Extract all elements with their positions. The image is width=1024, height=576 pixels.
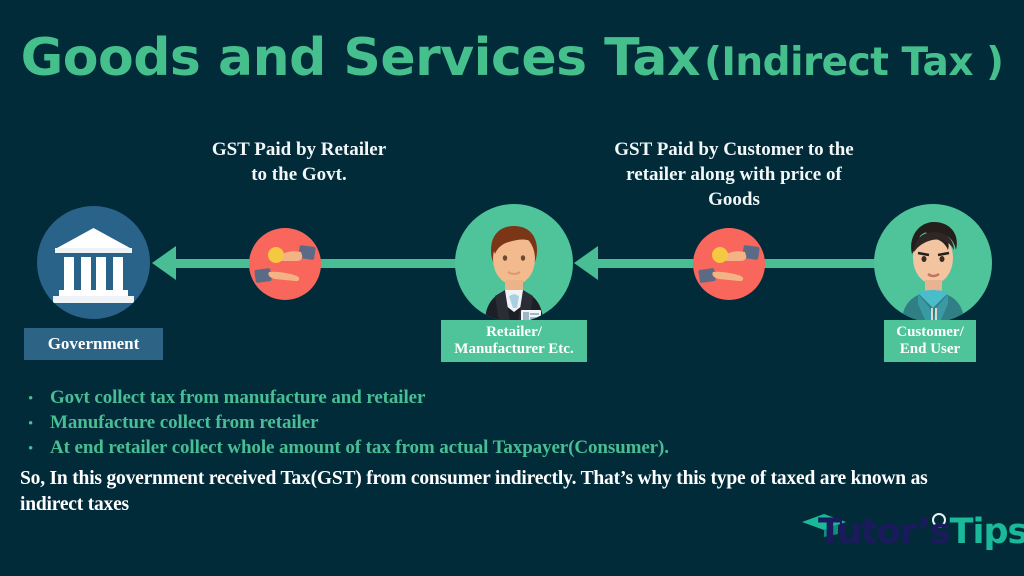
caption-right-line-1: GST Paid by Customer to the <box>576 137 892 162</box>
infographic-canvas: Goods and Services Tax (Indirect Tax ) G… <box>0 0 1024 576</box>
hand-coin-exchange-icon <box>693 228 765 300</box>
flow-arrow-head-customer-to-retailer <box>574 246 598 280</box>
tutors-tips-logo: Tutor’sTips <box>790 506 1006 562</box>
list-item: • Govt collect tax from manufacture and … <box>28 385 958 410</box>
young-person-avatar-icon <box>874 204 992 322</box>
caption-left-line-2: to the Govt. <box>170 162 428 187</box>
title-main-text: Goods and Services Tax <box>21 28 700 88</box>
label-government: Government <box>24 328 163 360</box>
bank-building-icon <box>37 206 150 319</box>
label-customer: Customer/ End User <box>884 320 976 362</box>
label-government-text: Government <box>48 334 140 354</box>
caption-gst-paid-by-customer: GST Paid by Customer to the retailer alo… <box>576 137 892 212</box>
label-retailer: Retailer/ Manufacturer Etc. <box>441 320 587 362</box>
logo-text-tips: Tips <box>950 512 1024 552</box>
bullet-marker-icon: • <box>28 412 50 437</box>
hand-coin-exchange-icon <box>249 228 321 300</box>
page-title: Goods and Services Tax (Indirect Tax ) <box>0 28 1024 88</box>
title-subtitle-text: (Indirect Tax ) <box>704 40 1003 85</box>
bullet-text: Govt collect tax from manufacture and re… <box>50 385 425 410</box>
bullet-text: Manufacture collect from retailer <box>50 410 318 435</box>
logo-wordmark: Tutor’sTips <box>818 512 1024 552</box>
bullet-list: • Govt collect tax from manufacture and … <box>28 385 958 460</box>
flow-arrow-head-retailer-to-government <box>152 246 176 280</box>
caption-right-line-3: Goods <box>576 187 892 212</box>
bullet-marker-icon: • <box>28 437 50 462</box>
caption-left-line-1: GST Paid by Retailer <box>170 137 428 162</box>
label-retailer-line-2: Manufacturer Etc. <box>454 341 573 358</box>
caption-gst-paid-by-retailer: GST Paid by Retailer to the Govt. <box>170 137 428 187</box>
list-item: • Manufacture collect from retailer <box>28 410 958 435</box>
businessman-avatar-icon <box>455 204 573 322</box>
label-customer-line-2: End User <box>900 341 960 358</box>
bullet-text: At end retailer collect whole amount of … <box>50 435 669 460</box>
list-item: • At end retailer collect whole amount o… <box>28 435 958 460</box>
label-retailer-line-1: Retailer/ <box>486 324 542 341</box>
logo-text-tutors: Tutor’s <box>818 512 950 552</box>
bullet-marker-icon: • <box>28 387 50 412</box>
caption-right-line-2: retailer along with price of <box>576 162 892 187</box>
label-customer-line-1: Customer/ <box>896 324 964 341</box>
